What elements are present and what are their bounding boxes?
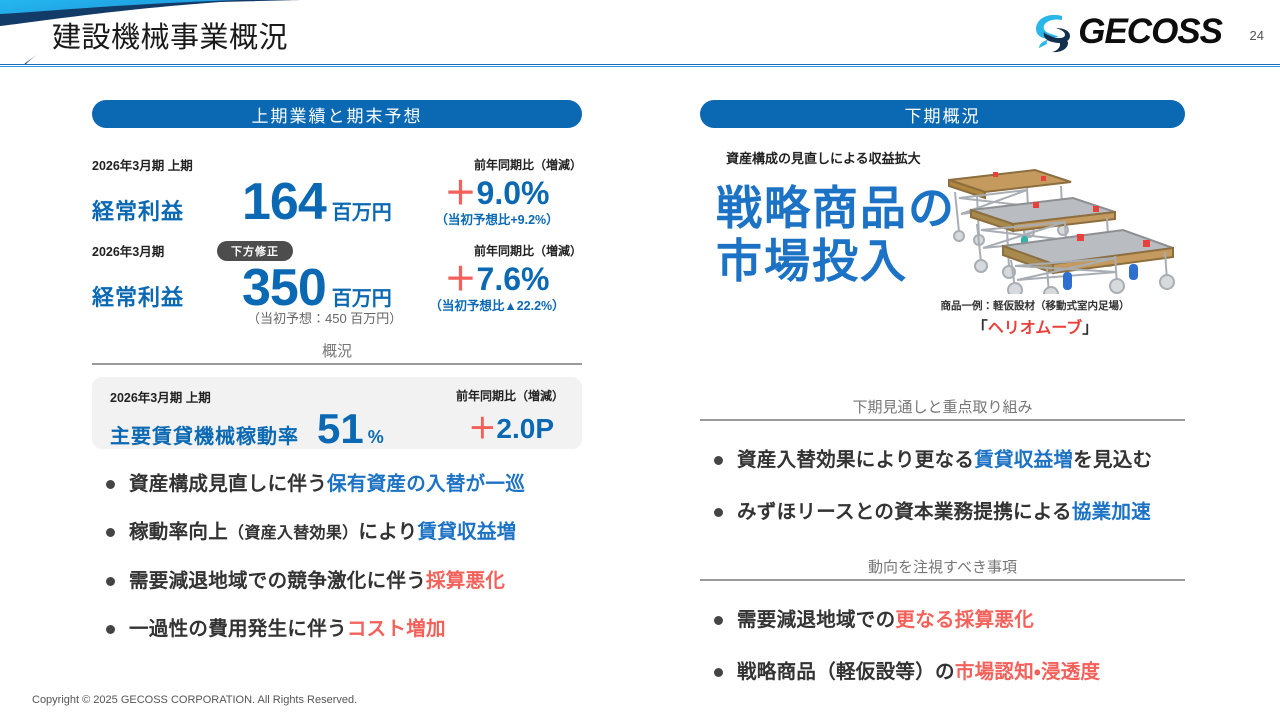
left-divider-overview: 概況	[92, 340, 582, 365]
gecoss-mark-icon	[1032, 10, 1074, 54]
left-column: 上期業績と期末予想 2026年3月期 上期 前年同期比（増減） 経常利益 164…	[92, 100, 582, 642]
product-caption-name: 「ヘリオムーブ」	[885, 314, 1185, 338]
list-item: 需要減退地域での競争激化に伴う採算悪化	[92, 568, 582, 594]
utilization-unit: %	[368, 427, 384, 448]
kpi-block-first-half: 2026年3月期 上期 前年同期比（増減） 経常利益 164 百万円 ＋9.0%…	[92, 156, 582, 228]
utilization-delta: ＋2.0P	[468, 407, 554, 447]
list-item: 一過性の費用発生に伴うコスト増加	[92, 616, 582, 642]
bullet-text: 一過性の費用発生に伴うコスト増加	[129, 616, 446, 642]
kpi-delta-value: 9.0%	[477, 175, 550, 211]
utilization-delta-value: 2.0P	[496, 413, 554, 444]
kpi-unit: 百万円	[332, 282, 392, 311]
product-caption-example: 商品一例：軽仮設材（移動式室内足場）	[885, 298, 1185, 313]
bullet-dot-icon	[106, 480, 115, 489]
utilization-delta-sign: ＋	[468, 413, 496, 444]
kpi-block-full-year: 2026年3月期 前年同期比（増減） 下方修正 経常利益 350 百万円 （当初…	[92, 242, 582, 314]
divider-label: 動向を注視すべき事項	[868, 559, 1017, 576]
bullet-text: 稼動率向上（資産入替効果）により賃貸収益増	[129, 519, 516, 545]
bullet-dot-icon	[714, 668, 723, 677]
kpi-delta-note: （当初予想比+9.2%）	[412, 209, 582, 228]
kpi-delta-value: 7.6%	[477, 261, 550, 297]
hero-subtitle: 資産構成の見直しによる収益拡大	[726, 148, 921, 167]
gecoss-wordmark: GECOSS	[1078, 10, 1222, 54]
header-divider-rule	[0, 64, 1280, 67]
gecoss-logo: GECOSS	[1032, 10, 1222, 54]
right-divider-outlook: 下期見通しと重点取り組み	[700, 396, 1185, 421]
kpi-delta: ＋7.6% （当初予想比▲22.2%）	[412, 262, 582, 314]
divider-label: 下期見通しと重点取り組み	[852, 399, 1032, 416]
kpi-delta-sign: ＋	[445, 175, 477, 211]
bullet-dot-icon	[106, 625, 115, 634]
bullet-text: 資産構成見直しに伴う保有資産の入替が一巡	[129, 471, 525, 497]
kpi-value: 350	[242, 262, 326, 314]
bullet-dot-icon	[714, 508, 723, 517]
kpi-delta: ＋9.0% （当初予想比+9.2%）	[412, 176, 582, 228]
product-photo-scaffold	[915, 154, 1195, 294]
utilization-name: 主要賃貸機械稼動率	[110, 420, 299, 449]
kpi-unit: 百万円	[332, 196, 392, 225]
kpi-delta-note: （当初予想比▲22.2%）	[412, 295, 582, 314]
bullet-dot-icon	[714, 456, 723, 465]
utilization-compare-label: 前年同期比（増減）	[456, 387, 564, 406]
right-watch-bullet-list: 需要減退地域での更なる採算悪化 戦略商品（軽仮設等）の市場認知・浸透度	[700, 607, 1185, 686]
list-item: 資産入替効果により更なる賃貸収益増を見込む	[700, 447, 1185, 473]
list-item: 戦略商品（軽仮設等）の市場認知・浸透度	[700, 659, 1185, 685]
bullet-dot-icon	[106, 528, 115, 537]
kpi-compare-label: 前年同期比（増減）	[474, 242, 582, 259]
kpi-period-label: 2026年3月期 上期	[92, 155, 193, 174]
bullet-text: 需要減退地域での更なる採算悪化	[737, 607, 1034, 633]
bullet-text: 戦略商品（軽仮設等）の市場認知・浸透度	[737, 659, 1100, 685]
right-column: 下期概況 資産構成の見直しによる収益拡大 戦略商品の 市場投入	[700, 100, 1185, 685]
downward-revision-badge: 下方修正	[217, 241, 293, 261]
kpi-value: 164	[242, 176, 326, 228]
utilization-value: 51	[317, 408, 364, 450]
kpi-name: 経常利益	[92, 194, 242, 226]
bullet-text: 需要減退地域での競争激化に伴う採算悪化	[129, 568, 505, 594]
product-caption: 商品一例：軽仮設材（移動式室内足場） 「ヘリオムーブ」	[885, 298, 1185, 338]
right-outlook-bullet-list: 資産入替効果により更なる賃貸収益増を見込む みずほリースとの資本業務提携による協…	[700, 447, 1185, 526]
left-bullet-list: 資産構成見直しに伴う保有資産の入替が一巡 稼動率向上（資産入替効果）により賃貸収…	[92, 471, 582, 642]
bullet-dot-icon	[714, 616, 723, 625]
page-number: 24	[1250, 28, 1264, 43]
kpi-name: 経常利益	[92, 280, 242, 312]
page-title: 建設機械事業概況	[52, 14, 288, 56]
left-section-header: 上期業績と期末予想	[92, 100, 582, 128]
kpi-delta-sign: ＋	[445, 261, 477, 297]
strategic-product-hero: 資産構成の見直しによる収益拡大 戦略商品の 市場投入	[700, 148, 1185, 388]
kpi-period-label: 2026年3月期	[92, 241, 164, 260]
divider-label: 概況	[322, 343, 352, 360]
utilization-rate-box: 2026年3月期 上期 前年同期比（増減） 主要賃貸機械稼動率 51 % ＋2.…	[92, 377, 582, 449]
list-item: 需要減退地域での更なる採算悪化	[700, 607, 1185, 633]
list-item: 資産構成見直しに伴う保有資産の入替が一巡	[92, 471, 582, 497]
right-section-header: 下期概況	[700, 100, 1185, 128]
utilization-period-label: 2026年3月期 上期	[110, 387, 211, 406]
right-divider-watch: 動向を注視すべき事項	[700, 556, 1185, 581]
kpi-compare-label: 前年同期比（増減）	[474, 156, 582, 173]
copyright-footer: Copyright © 2025 GECOSS CORPORATION. All…	[32, 694, 357, 706]
bullet-text: みずほリースとの資本業務提携による協業加速	[737, 499, 1151, 525]
list-item: 稼動率向上（資産入替効果）により賃貸収益増	[92, 519, 582, 545]
bullet-dot-icon	[106, 577, 115, 586]
list-item: みずほリースとの資本業務提携による協業加速	[700, 499, 1185, 525]
slide-header: 建設機械事業概況 GECOSS 24	[0, 0, 1280, 66]
bullet-text: 資産入替効果により更なる賃貸収益増を見込む	[737, 447, 1152, 473]
